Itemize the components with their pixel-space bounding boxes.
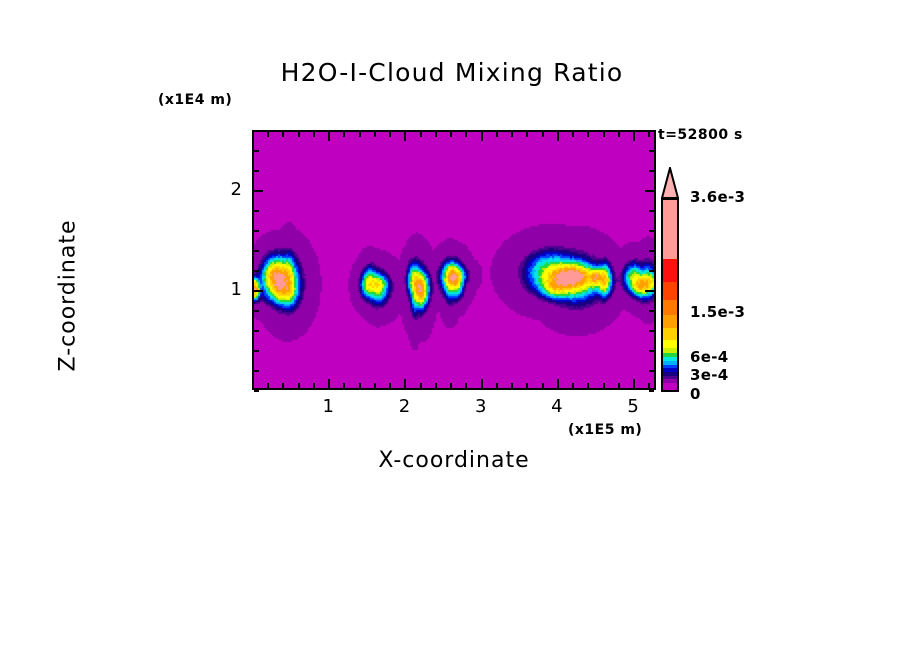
x-tick-label: 4 bbox=[537, 396, 577, 417]
axis-tick bbox=[254, 230, 259, 232]
axis-tick bbox=[254, 290, 263, 292]
x-tick-label: 2 bbox=[384, 396, 424, 417]
axis-tick bbox=[648, 383, 650, 388]
axis-tick bbox=[542, 132, 544, 137]
colorbar-band bbox=[663, 259, 677, 283]
axis-tick bbox=[618, 383, 620, 388]
colorbar-tick-label: 1.5e-3 bbox=[690, 303, 745, 321]
colorbar-band bbox=[663, 328, 677, 340]
axis-tick bbox=[649, 250, 654, 252]
axis-tick bbox=[359, 383, 361, 388]
axis-tick bbox=[645, 290, 654, 292]
axis-tick bbox=[267, 132, 269, 137]
axis-tick bbox=[557, 379, 559, 388]
axis-tick bbox=[404, 379, 406, 388]
axis-tick bbox=[254, 190, 263, 192]
axis-tick bbox=[465, 132, 467, 137]
axis-tick bbox=[343, 132, 345, 137]
y-tick-label: 1 bbox=[202, 279, 242, 300]
contour-plot-area bbox=[252, 130, 656, 390]
axis-tick bbox=[254, 170, 259, 172]
axis-tick bbox=[618, 132, 620, 137]
axis-tick bbox=[254, 350, 259, 352]
axis-tick bbox=[254, 270, 259, 272]
axis-tick bbox=[649, 230, 654, 232]
colorbar bbox=[661, 198, 679, 392]
axis-tick bbox=[587, 383, 589, 388]
chart-title: H2O-I-Cloud Mixing Ratio bbox=[0, 58, 904, 87]
axis-tick bbox=[465, 383, 467, 388]
y-axis-units-label: (x1E4 m) bbox=[158, 92, 232, 108]
axis-tick bbox=[389, 132, 391, 137]
x-axis-units-label: (x1E5 m) bbox=[568, 422, 642, 438]
axis-tick bbox=[435, 383, 437, 388]
colorbar-tick-label: 6e-4 bbox=[690, 348, 728, 366]
axis-tick bbox=[252, 132, 254, 137]
axis-tick bbox=[649, 150, 654, 152]
axis-tick bbox=[389, 383, 391, 388]
axis-tick bbox=[328, 379, 330, 388]
contour-field-canvas bbox=[254, 132, 656, 390]
axis-tick bbox=[298, 132, 300, 137]
x-tick-label: 1 bbox=[308, 396, 348, 417]
axis-tick bbox=[496, 132, 498, 137]
axis-tick bbox=[374, 383, 376, 388]
axis-tick bbox=[254, 370, 259, 372]
axis-tick bbox=[359, 132, 361, 137]
axis-tick bbox=[420, 132, 422, 137]
axis-tick bbox=[633, 132, 635, 141]
axis-tick bbox=[649, 130, 654, 132]
axis-tick bbox=[435, 132, 437, 137]
axis-tick bbox=[267, 383, 269, 388]
colorbar-band bbox=[663, 300, 677, 316]
y-tick-label: 2 bbox=[202, 179, 242, 200]
axis-tick bbox=[511, 383, 513, 388]
axis-tick bbox=[404, 132, 406, 141]
axis-tick bbox=[254, 310, 259, 312]
axis-tick bbox=[282, 383, 284, 388]
axis-tick bbox=[481, 379, 483, 388]
axis-tick bbox=[313, 132, 315, 137]
time-annotation: t=52800 s bbox=[658, 127, 743, 143]
axis-tick bbox=[526, 383, 528, 388]
axis-tick bbox=[298, 383, 300, 388]
axis-tick bbox=[572, 383, 574, 388]
axis-tick bbox=[450, 132, 452, 137]
axis-tick bbox=[557, 132, 559, 141]
axis-tick bbox=[254, 210, 259, 212]
axis-tick bbox=[649, 350, 654, 352]
axis-tick bbox=[572, 132, 574, 137]
axis-tick bbox=[603, 132, 605, 137]
colorbar-band bbox=[663, 315, 677, 329]
colorbar-tick-label: 3e-4 bbox=[690, 366, 728, 384]
axis-tick bbox=[603, 383, 605, 388]
axis-tick bbox=[645, 190, 654, 192]
axis-tick bbox=[254, 330, 259, 332]
y-axis-title: Z-coordinate bbox=[56, 166, 81, 426]
axis-tick bbox=[420, 383, 422, 388]
x-tick-label: 5 bbox=[613, 396, 653, 417]
colorbar-extend-arrow bbox=[661, 167, 679, 199]
axis-tick bbox=[450, 383, 452, 388]
axis-tick bbox=[649, 210, 654, 212]
axis-tick bbox=[328, 132, 330, 141]
axis-tick bbox=[254, 250, 259, 252]
colorbar-band bbox=[663, 383, 677, 391]
axis-tick bbox=[542, 383, 544, 388]
axis-tick bbox=[343, 383, 345, 388]
colorbar-tick-label: 0 bbox=[690, 385, 701, 403]
colorbar-band bbox=[663, 282, 677, 300]
axis-tick bbox=[374, 132, 376, 137]
axis-tick bbox=[587, 132, 589, 137]
axis-tick bbox=[649, 170, 654, 172]
axis-tick bbox=[313, 383, 315, 388]
axis-tick bbox=[648, 132, 650, 137]
figure-root: H2O-I-Cloud Mixing Ratio (x1E4 m) t=5280… bbox=[0, 0, 904, 654]
colorbar-tick-label: 3.6e-3 bbox=[690, 188, 745, 206]
axis-tick bbox=[511, 132, 513, 137]
axis-tick bbox=[649, 370, 654, 372]
axis-tick bbox=[633, 379, 635, 388]
axis-tick bbox=[649, 310, 654, 312]
axis-tick bbox=[282, 132, 284, 137]
axis-tick bbox=[649, 390, 654, 392]
x-tick-label: 3 bbox=[461, 396, 501, 417]
axis-tick bbox=[481, 132, 483, 141]
x-axis-title: X-coordinate bbox=[252, 448, 656, 473]
axis-tick bbox=[526, 132, 528, 137]
axis-tick bbox=[496, 383, 498, 388]
axis-tick bbox=[649, 270, 654, 272]
axis-tick bbox=[252, 383, 254, 388]
axis-tick bbox=[254, 130, 259, 132]
axis-tick bbox=[254, 390, 259, 392]
colorbar-band bbox=[663, 200, 677, 260]
axis-tick bbox=[254, 150, 259, 152]
axis-tick bbox=[649, 330, 654, 332]
